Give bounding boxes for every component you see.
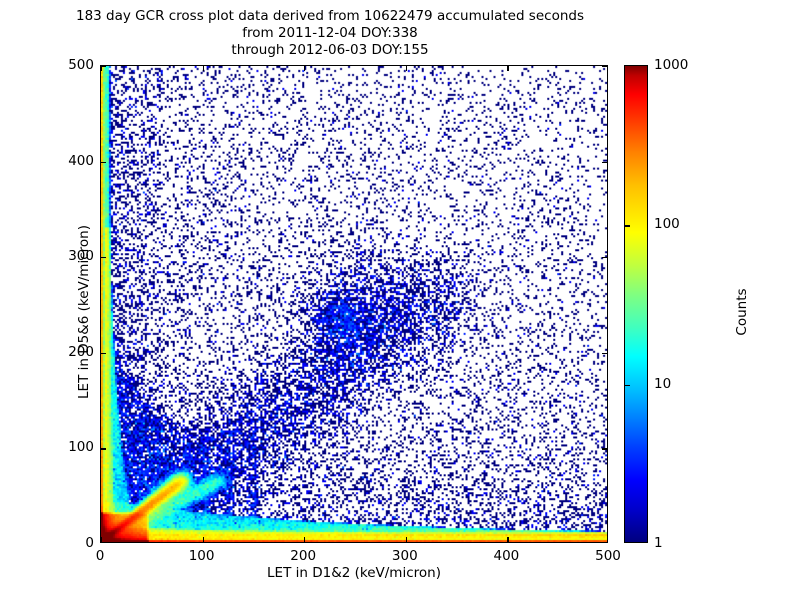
x-tick-mark	[203, 537, 204, 542]
x-tick-mark	[507, 66, 508, 71]
y-tick-mark	[602, 353, 607, 354]
plot-area	[100, 65, 608, 543]
y-tick-mark	[602, 66, 607, 67]
y-axis-label: LET in D5&6 (keV/micron)	[76, 162, 92, 462]
x-tick-mark	[203, 66, 204, 71]
colorbar-tick-label: 1000	[654, 57, 688, 73]
x-tick-label: 200	[290, 548, 316, 564]
colorbar	[624, 65, 648, 543]
y-tick-mark	[101, 162, 106, 163]
x-tick-mark	[304, 537, 305, 542]
chart-title: 183 day GCR cross plot data derived from…	[0, 8, 660, 59]
colorbar-tick-mark	[625, 385, 630, 386]
colorbar-tick-label: 100	[654, 216, 680, 232]
x-tick-label: 500	[595, 548, 621, 564]
y-tick-label: 500	[68, 57, 94, 73]
y-tick-mark	[602, 257, 607, 258]
title-line-3: through 2012-06-03 DOY:155	[0, 42, 660, 59]
x-tick-mark	[406, 66, 407, 71]
y-tick-mark	[602, 448, 607, 449]
colorbar-tick-mark	[625, 225, 630, 226]
x-axis-label: LET in D1&2 (keV/micron)	[100, 565, 608, 581]
colorbar-tick-label: 10	[654, 376, 671, 392]
y-tick-label: 0	[85, 535, 94, 551]
figure: 183 day GCR cross plot data derived from…	[0, 0, 800, 600]
x-tick-mark	[304, 66, 305, 71]
y-tick-mark	[101, 353, 106, 354]
x-tick-label: 300	[392, 548, 418, 564]
y-tick-mark	[602, 162, 607, 163]
title-line-2: from 2011-12-04 DOY:338	[0, 25, 660, 42]
x-tick-mark	[507, 537, 508, 542]
colorbar-label: Counts	[734, 212, 750, 412]
density-scatter-canvas	[101, 66, 607, 542]
y-tick-mark	[101, 257, 106, 258]
colorbar-tick-label: 1	[654, 535, 663, 551]
title-line-1: 183 day GCR cross plot data derived from…	[0, 8, 660, 25]
y-tick-mark	[101, 448, 106, 449]
x-tick-mark	[406, 537, 407, 542]
x-tick-mark	[101, 537, 102, 542]
x-tick-label: 0	[96, 548, 105, 564]
x-tick-label: 100	[189, 548, 215, 564]
y-tick-mark	[101, 66, 106, 67]
x-tick-label: 400	[494, 548, 520, 564]
